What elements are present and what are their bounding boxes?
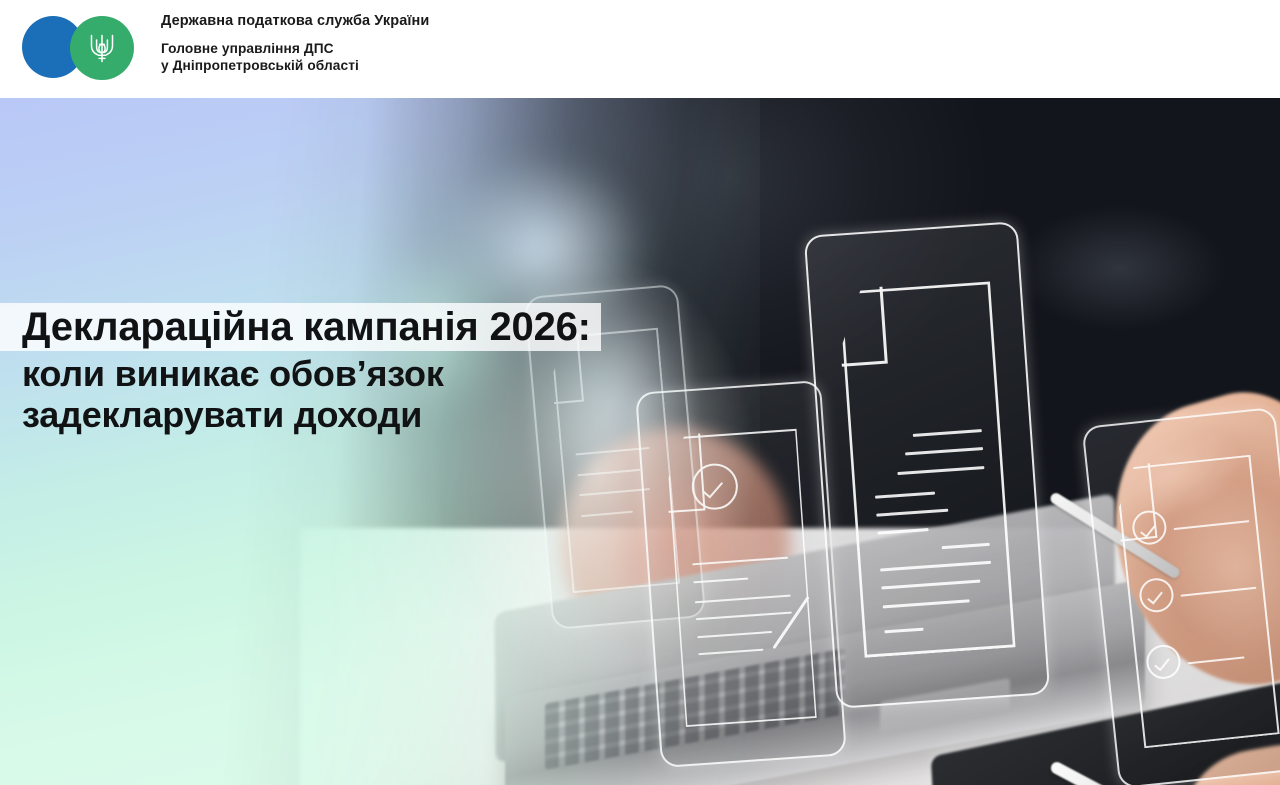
hero-banner: Декларацiйна кампанiя 2026: коли виникає… bbox=[0, 98, 1280, 785]
header-org-text: Державна податкова служба України Головн… bbox=[161, 14, 429, 74]
page-root: Державна податкова служба України Головн… bbox=[0, 0, 1280, 785]
headline-line-1: Декларацiйна кампанiя 2026: bbox=[0, 303, 601, 351]
headline-line-3: задекларувати доходи bbox=[0, 394, 760, 435]
org-title-primary: Державна податкова служба України bbox=[161, 14, 429, 29]
logo-green-circle-icon bbox=[70, 16, 134, 80]
org-title-region: у Дніпропетровській області bbox=[161, 57, 429, 74]
dps-logo[interactable] bbox=[22, 16, 152, 82]
hero-gradient-overlay bbox=[0, 98, 760, 785]
hero-headline: Декларацiйна кампанiя 2026: коли виникає… bbox=[0, 303, 760, 435]
site-header: Державна податкова служба України Головн… bbox=[0, 0, 1280, 98]
document-card-text bbox=[804, 221, 1051, 709]
headline-line-2: коли виникає обов’язок bbox=[0, 353, 760, 394]
ukraine-trident-icon bbox=[87, 31, 117, 65]
org-title-secondary: Головне управління ДПС bbox=[161, 40, 429, 57]
